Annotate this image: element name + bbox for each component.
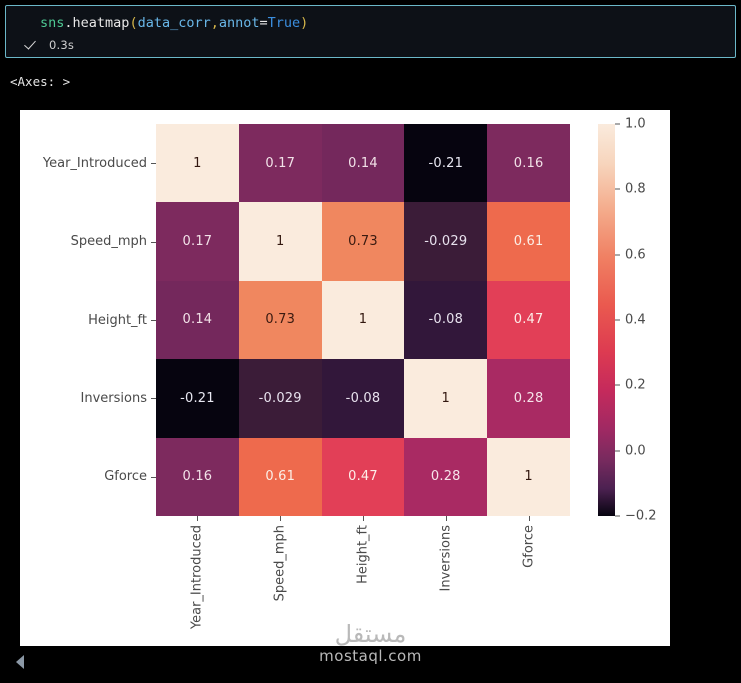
heatmap-cell: 0.73: [239, 281, 322, 359]
code-line[interactable]: sns.heatmap(data_corr,annot=True): [6, 15, 735, 32]
notebook-output-area: sns.heatmap(data_corr,annot=True) 0.3s <…: [0, 0, 741, 89]
x-tick-4: Gforce: [487, 516, 570, 646]
heatmap-cell: 1: [156, 124, 239, 202]
x-tick-label-4: Gforce: [521, 525, 536, 568]
heatmap-cell: 0.61: [239, 438, 322, 516]
code-cell[interactable]: sns.heatmap(data_corr,annot=True) 0.3s: [5, 5, 736, 58]
heatmap-cell: 0.16: [156, 438, 239, 516]
code-token-8: True: [268, 15, 301, 31]
check-icon: [24, 39, 37, 52]
colorbar-tick-4: 0.2: [615, 378, 646, 393]
execution-status-row: 0.3s: [6, 32, 735, 53]
y-tick-label-4: Gforce: [20, 438, 156, 516]
y-tick-label-2: Height_ft: [20, 281, 156, 359]
x-tick-label-0: Year_Introduced: [190, 525, 205, 629]
x-tick-mark: [529, 516, 530, 521]
x-tick-0: Year_Introduced: [156, 516, 239, 646]
heatmap-cell: 0.28: [404, 438, 487, 516]
code-token-6: annot: [219, 15, 260, 31]
colorbar-tick-mark: [615, 516, 620, 517]
colorbar-tick-1: 0.8: [615, 182, 646, 197]
x-tick-mark: [446, 516, 447, 521]
heatmap-cell: 0.17: [156, 202, 239, 280]
code-token-7: =: [260, 15, 268, 31]
code-token-1: .: [64, 15, 72, 31]
colorbar-tick-label-2: 0.6: [625, 247, 646, 262]
heatmap-cell: 1: [239, 202, 322, 280]
x-tick-2: Height_ft: [322, 516, 405, 646]
colorbar-tick-label-5: 0.0: [625, 443, 646, 458]
heatmap-cell: 1: [487, 438, 570, 516]
y-tick-label-0: Year_Introduced: [20, 124, 156, 202]
colorbar-tick-mark: [615, 320, 620, 321]
watermark-latin-text: mostaql.com: [319, 647, 422, 665]
heatmap-cell: -0.08: [404, 281, 487, 359]
heatmap-cell: -0.029: [239, 359, 322, 437]
colorbar-tick-label-1: 0.8: [625, 182, 646, 197]
heatmap-cell: 0.14: [156, 281, 239, 359]
x-tick-mark: [363, 516, 364, 521]
colorbar-tick-mark: [615, 189, 620, 190]
heatmap-cell: 1: [404, 359, 487, 437]
heatmap-cell: 0.73: [322, 202, 405, 280]
colorbar-tick-label-6: −0.2: [625, 509, 657, 524]
colorbar-tick-mark: [615, 385, 620, 386]
colorbar-tick-5: 0.0: [615, 443, 646, 458]
output-repr-text: <Axes: >: [0, 58, 741, 89]
colorbar-tick-mark: [615, 124, 620, 125]
heatmap-cell: 0.47: [322, 438, 405, 516]
heatmap-cell: -0.21: [404, 124, 487, 202]
code-token-0: sns: [40, 15, 64, 31]
colorbar: 1.00.80.60.40.20.0−0.2: [598, 124, 666, 516]
y-tick-label-3: Inversions: [20, 359, 156, 437]
x-tick-label-1: Speed_mph: [273, 525, 288, 601]
triangle-left-icon[interactable]: [16, 655, 24, 669]
code-token-4: data_corr: [138, 15, 211, 31]
heatmap-cell: -0.21: [156, 359, 239, 437]
heatmap-cell: -0.029: [404, 202, 487, 280]
colorbar-tick-label-0: 1.0: [625, 117, 646, 132]
colorbar-gradient: [598, 124, 615, 516]
code-token-3: (: [129, 15, 137, 31]
colorbar-tick-mark: [615, 450, 620, 451]
heatmap-cell: -0.08: [322, 359, 405, 437]
colorbar-tick-label-4: 0.2: [625, 378, 646, 393]
x-tick-1: Speed_mph: [239, 516, 322, 646]
heatmap-grid: 10.170.14-0.210.160.1710.73-0.0290.610.1…: [156, 124, 570, 516]
colorbar-tick-3: 0.4: [615, 313, 646, 328]
heatmap-cell: 0.47: [487, 281, 570, 359]
x-tick-mark: [197, 516, 198, 521]
x-tick-label-2: Height_ft: [355, 525, 370, 584]
colorbar-tick-2: 0.6: [615, 247, 646, 262]
colorbar-tick-mark: [615, 254, 620, 255]
code-token-2: heatmap: [73, 15, 130, 31]
x-tick-3: Inversions: [404, 516, 487, 646]
heatmap-cell: 0.14: [322, 124, 405, 202]
execution-time: 0.3s: [49, 38, 74, 52]
heatmap-cell: 0.16: [487, 124, 570, 202]
heatmap-cell: 0.28: [487, 359, 570, 437]
matplotlib-figure: Year_IntroducedSpeed_mphHeight_ftInversi…: [20, 110, 670, 646]
colorbar-tick-6: −0.2: [615, 509, 657, 524]
code-token-5: ,: [211, 15, 219, 31]
y-tick-label-1: Speed_mph: [20, 202, 156, 280]
colorbar-tick-label-3: 0.4: [625, 313, 646, 328]
x-tick-label-3: Inversions: [438, 525, 453, 591]
heatmap-cell: 0.61: [487, 202, 570, 280]
heatmap-cell: 1: [322, 281, 405, 359]
code-token-9: ): [300, 15, 308, 31]
colorbar-tick-0: 1.0: [615, 117, 646, 132]
x-tick-mark: [280, 516, 281, 521]
y-axis-tick-labels: Year_IntroducedSpeed_mphHeight_ftInversi…: [20, 124, 156, 516]
x-axis-tick-labels: Year_IntroducedSpeed_mphHeight_ftInversi…: [156, 516, 570, 646]
heatmap-cell: 0.17: [239, 124, 322, 202]
